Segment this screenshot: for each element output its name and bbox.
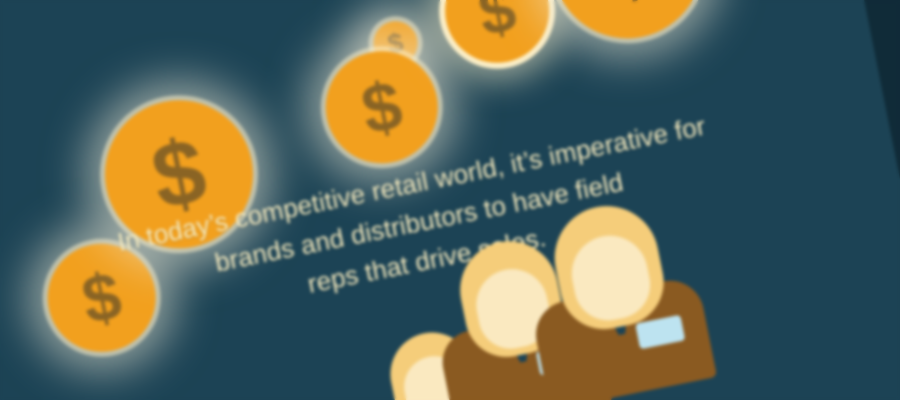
dollar-coin-icon: $: [436, 0, 558, 72]
card-content: $$$$$$ In today’s competitive retail wor…: [0, 0, 900, 400]
dollar-coin-icon: $: [539, 0, 715, 52]
dollar-coin-icon: $: [316, 41, 448, 173]
infographic-card: $$$$$$ In today’s competitive retail wor…: [0, 0, 900, 400]
screenshot-canvas: $$$$$$ In today’s competitive retail wor…: [0, 0, 900, 400]
